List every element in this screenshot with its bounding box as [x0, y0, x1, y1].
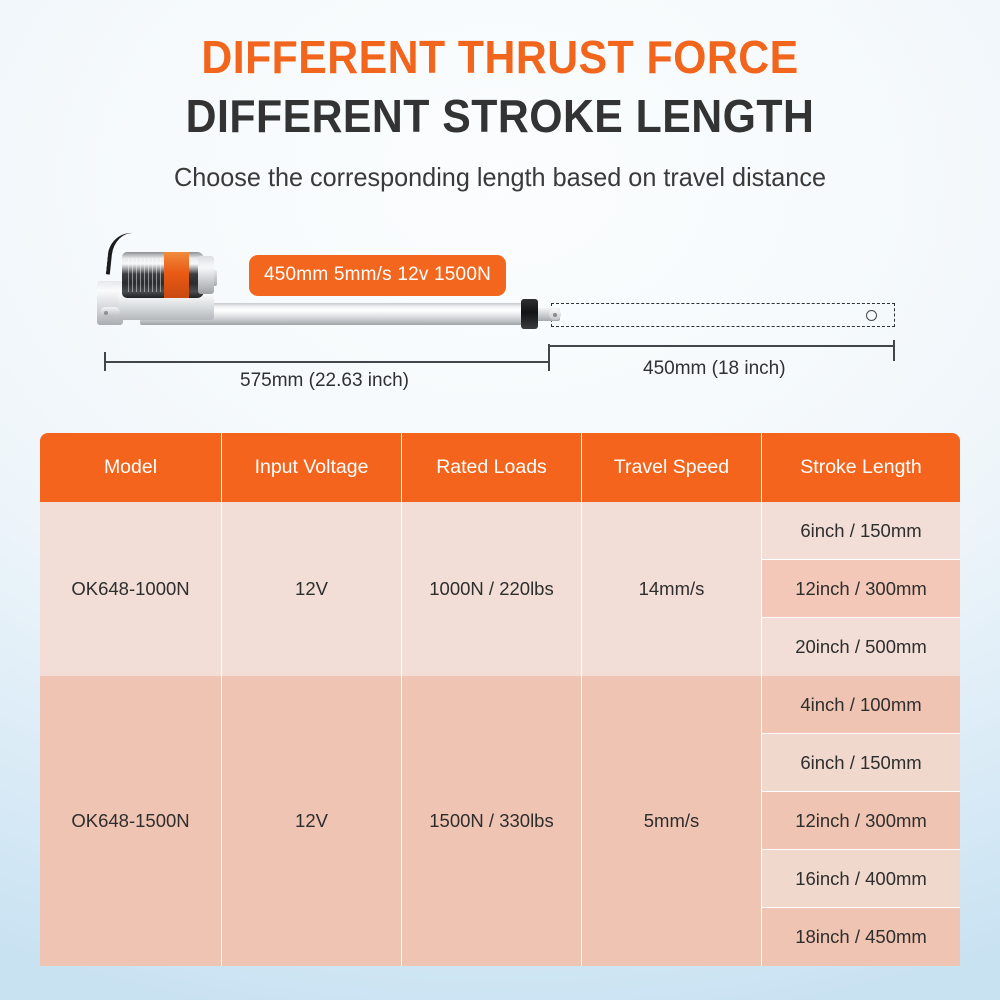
page-background: DIFFERENT THRUST FORCE DIFFERENT STROKE …: [0, 0, 1000, 1000]
table-row: OK648-1500N 12V 1500N / 330lbs 5mm/s 4in…: [40, 676, 960, 734]
specification-table: Model Input Voltage Rated Loads Travel S…: [40, 433, 960, 966]
column-header-travel-speed: Travel Speed: [582, 433, 762, 502]
cell-stroke-option: 6inch / 150mm: [762, 502, 960, 560]
cell-stroke-option: 20inch / 500mm: [762, 618, 960, 676]
cell-stroke-option: 16inch / 400mm: [762, 850, 960, 908]
column-header-rated-loads: Rated Loads: [402, 433, 582, 502]
column-header-stroke-length: Stroke Length: [762, 433, 960, 502]
stroke-length-dimension-line: [550, 345, 895, 347]
rear-mount-hole: [100, 307, 120, 317]
table-row: OK648-1000N 12V 1000N / 220lbs 14mm/s 6i…: [40, 502, 960, 560]
column-header-model: Model: [40, 433, 222, 502]
cell-model: OK648-1000N: [40, 502, 222, 676]
cell-stroke-option: 4inch / 100mm: [762, 676, 960, 734]
cell-input-voltage: 12V: [222, 502, 402, 676]
cell-travel-speed: 5mm/s: [582, 676, 762, 966]
cell-stroke-option: 6inch / 150mm: [762, 734, 960, 792]
table-header-row: Model Input Voltage Rated Loads Travel S…: [40, 433, 960, 502]
total-length-tick-left: [104, 352, 106, 371]
motor-label-stripes: [128, 258, 162, 292]
cell-rated-loads: 1000N / 220lbs: [402, 502, 582, 676]
cell-model: OK648-1500N: [40, 676, 222, 966]
header-block: DIFFERENT THRUST FORCE DIFFERENT STROKE …: [0, 0, 1000, 193]
page-title-line1: DIFFERENT THRUST FORCE: [35, 34, 965, 82]
cell-stroke-option: 18inch / 450mm: [762, 908, 960, 966]
motor-end-cap: [198, 256, 214, 294]
page-title-line2: DIFFERENT STROKE LENGTH: [35, 93, 965, 141]
stroke-extension-clevis-hole: [866, 310, 877, 321]
stroke-length-tick-right: [893, 340, 895, 361]
motor-brand-label: [164, 252, 189, 298]
cell-travel-speed: 14mm/s: [582, 502, 762, 676]
total-length-label: 575mm (22.63 inch): [240, 370, 409, 392]
column-header-input-voltage: Input Voltage: [222, 433, 402, 502]
total-length-dimension-line: [104, 361, 550, 363]
motor-housing: [122, 252, 204, 298]
cell-input-voltage: 12V: [222, 676, 402, 966]
stroke-extension-outline: [551, 303, 895, 327]
page-subtitle: Choose the corresponding length based on…: [15, 162, 985, 193]
cell-stroke-option: 12inch / 300mm: [762, 560, 960, 618]
cell-stroke-option: 12inch / 300mm: [762, 792, 960, 850]
spec-badge: 450mm 5mm/s 12v 1500N: [249, 255, 506, 296]
tube-end-collar: [521, 299, 538, 329]
stroke-length-label: 450mm (18 inch): [643, 358, 786, 380]
rod-clevis-hole: [549, 309, 561, 320]
total-length-tick-right: [548, 344, 550, 371]
cell-rated-loads: 1500N / 330lbs: [402, 676, 582, 966]
